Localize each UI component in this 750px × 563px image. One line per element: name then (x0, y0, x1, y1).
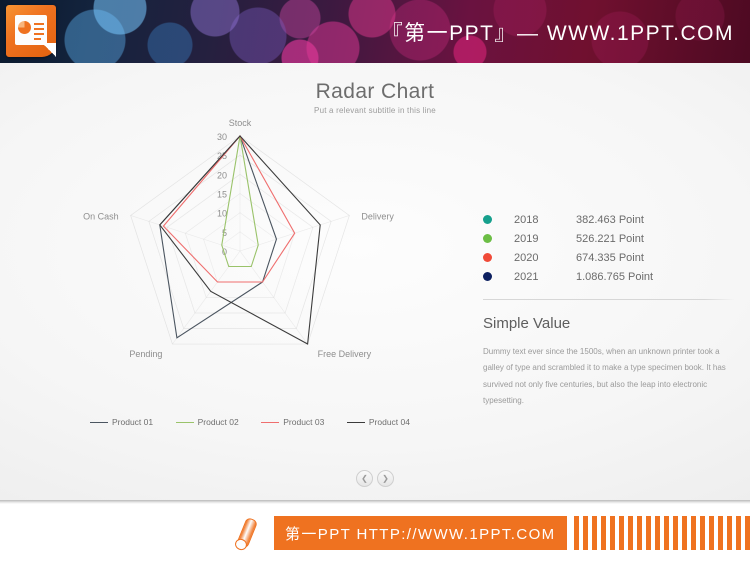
status-dot-icon (483, 234, 492, 243)
footer-stripe (628, 516, 633, 550)
footer-stripe (646, 516, 651, 550)
status-dot-icon (483, 215, 492, 224)
chart-legend-item[interactable]: Product 01 (90, 417, 153, 427)
svg-text:30: 30 (217, 132, 227, 142)
stat-row: 2019526.221 Point (483, 229, 735, 248)
footer-stripe (745, 516, 750, 550)
legend-line-swatch (176, 422, 194, 423)
logo-fold-corner (42, 43, 56, 57)
footer-bar: 第一PPT HTTP://WWW.1PPT.COM (0, 500, 750, 563)
panel-divider (483, 299, 735, 300)
top-banner: 『第一PPT』— WWW.1PPT.COM (0, 0, 750, 63)
stat-value: 1.086.765 Point (576, 271, 653, 283)
footer-stripe (682, 516, 687, 550)
stat-row: 2020674.335 Point (483, 248, 735, 267)
stat-value: 382.463 Point (576, 214, 644, 226)
legend-label: Product 04 (369, 417, 410, 427)
footer-stripe (673, 516, 678, 550)
pen-icon (232, 516, 274, 550)
info-panel: 2018382.463 Point2019526.221 Point202067… (483, 210, 735, 410)
legend-line-swatch (261, 422, 279, 423)
chart-legend-item[interactable]: Product 02 (176, 417, 239, 427)
footer-stripe (610, 516, 615, 550)
stat-value: 526.221 Point (576, 233, 644, 245)
radar-chart-svg: 051015202530StockDeliveryFree DeliveryPe… (55, 128, 445, 428)
stat-row: 2018382.463 Point (483, 210, 735, 229)
footer-stripe (655, 516, 660, 550)
chart-series-legend: Product 01Product 02Product 03Product 04 (90, 412, 410, 432)
slide-root: 『第一PPT』— WWW.1PPT.COM Radar Chart Put a … (0, 0, 750, 563)
prev-slide-button[interactable]: ❮ (356, 470, 373, 487)
svg-text:10: 10 (217, 209, 227, 219)
footer-stripe (709, 516, 714, 550)
stat-year: 2019 (514, 233, 576, 245)
svg-text:Stock: Stock (229, 118, 252, 128)
footer-stripe (583, 516, 588, 550)
panel-heading: Simple Value (483, 315, 735, 332)
footer-stripe (700, 516, 705, 550)
legend-label: Product 02 (198, 417, 239, 427)
footer-stripe (664, 516, 669, 550)
legend-label: Product 03 (283, 417, 324, 427)
stat-value: 674.335 Point (576, 252, 644, 264)
footer-bar-stripes (574, 516, 750, 550)
footer-stripe (601, 516, 606, 550)
footer-stripe (718, 516, 723, 550)
powerpoint-logo-icon (6, 5, 56, 57)
footer-label: 第一PPT HTTP://WWW.1PPT.COM (274, 516, 567, 550)
footer-stripe (592, 516, 597, 550)
stat-row: 20211.086.765 Point (483, 267, 735, 286)
panel-paragraph: Dummy text ever since the 1500s, when an… (483, 344, 733, 410)
status-dot-icon (483, 253, 492, 262)
stat-year: 2021 (514, 271, 576, 283)
slide-navigation: ❮ ❯ (0, 470, 750, 487)
svg-text:On Cash: On Cash (83, 212, 119, 222)
svg-text:15: 15 (217, 190, 227, 200)
footer-stripe (727, 516, 732, 550)
legend-line-swatch (90, 422, 108, 423)
footer-stripe (637, 516, 642, 550)
footer-separator (0, 500, 750, 504)
page-subtitle: Put a relevant subtitle in this line (0, 106, 750, 115)
chart-legend-item[interactable]: Product 04 (347, 417, 410, 427)
slide-body: Radar Chart Put a relevant subtitle in t… (0, 63, 750, 500)
footer-stripe (691, 516, 696, 550)
stats-list: 2018382.463 Point2019526.221 Point202067… (483, 210, 735, 286)
svg-text:20: 20 (217, 170, 227, 180)
status-dot-icon (483, 272, 492, 281)
page-title: Radar Chart (0, 80, 750, 104)
svg-text:Pending: Pending (129, 349, 162, 359)
footer-stripe (619, 516, 624, 550)
brand-text: 『第一PPT』— WWW.1PPT.COM (382, 17, 734, 47)
pie-chart-icon (18, 21, 31, 34)
svg-text:Delivery: Delivery (361, 212, 394, 222)
stat-year: 2018 (514, 214, 576, 226)
legend-line-swatch (347, 422, 365, 423)
legend-label: Product 01 (112, 417, 153, 427)
footer-stripe (736, 516, 741, 550)
chart-legend-item[interactable]: Product 03 (261, 417, 324, 427)
svg-text:Free Delivery: Free Delivery (318, 349, 372, 359)
stat-year: 2020 (514, 252, 576, 264)
next-slide-button[interactable]: ❯ (377, 470, 394, 487)
radar-chart: 051015202530StockDeliveryFree DeliveryPe… (55, 128, 445, 448)
logo-card (15, 15, 47, 45)
footer-stripe (574, 516, 579, 550)
